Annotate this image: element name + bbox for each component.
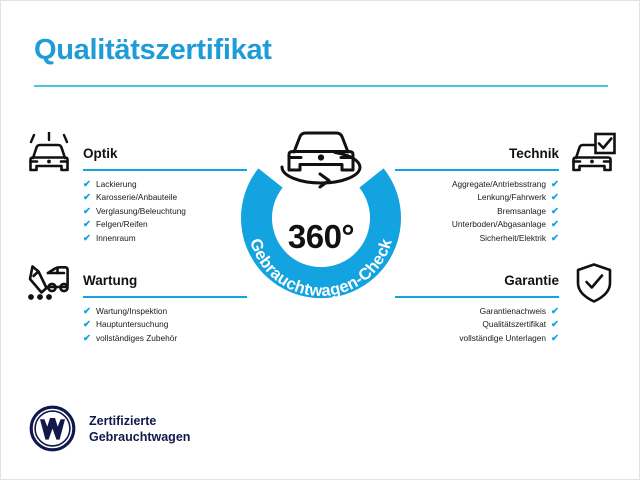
shield-check-icon	[573, 261, 615, 310]
check-icon: ✔	[83, 318, 91, 331]
check-icon: ✔	[83, 305, 91, 318]
check-icon: ✔	[551, 318, 559, 331]
check-icon: ✔	[551, 218, 559, 231]
list-item-label: Qualitätszertifikat	[482, 318, 546, 331]
list-item-label: Aggregate/Antriebsstrang	[452, 178, 546, 191]
list-item-label: Bremsanlage	[497, 205, 546, 218]
list-item-label: vollständiges Zubehör	[96, 332, 177, 345]
list-item-label: Verglasung/Beleuchtung	[96, 205, 186, 218]
list-item-label: Lenkung/Fahrwerk	[477, 191, 546, 204]
list-item-label: vollständige Unterlagen	[459, 332, 546, 345]
check-icon: ✔	[83, 205, 91, 218]
section-header: Technik	[395, 145, 559, 171]
section-header: Optik	[83, 145, 247, 171]
list-item: ✔Qualitätszertifikat	[395, 318, 559, 331]
list-item: ✔Lackierung	[83, 178, 247, 191]
list-item: ✔Lenkung/Fahrwerk	[395, 191, 559, 204]
check-icon: ✔	[551, 332, 559, 345]
check-icon: ✔	[551, 232, 559, 245]
list-item-label: Karosserie/Anbauteile	[96, 191, 177, 204]
section-technik: Technik ✔Aggregate/Antriebsstrang ✔Lenku…	[395, 145, 559, 245]
car-rotate-icon	[282, 133, 360, 187]
section-header: Wartung	[83, 272, 247, 298]
list-item: ✔Garantienachweis	[395, 305, 559, 318]
section-header: Garantie	[395, 272, 559, 298]
section-wartung: Wartung ✔Wartung/Inspektion ✔Hauptunters…	[83, 272, 247, 345]
list-item: ✔vollständige Unterlagen	[395, 332, 559, 345]
section-title: Wartung	[83, 272, 247, 290]
checklist: ✔Garantienachweis ✔Qualitätszertifikat ✔…	[395, 305, 559, 345]
section-underline	[395, 169, 559, 171]
checklist: ✔Lackierung ✔Karosserie/Anbauteile ✔Verg…	[83, 178, 247, 245]
footer-label: Zertifizierte Gebrauchtwagen	[89, 413, 190, 445]
title-divider	[34, 85, 608, 87]
section-underline	[83, 296, 247, 298]
list-item-label: Unterboden/Abgasanlage	[452, 218, 546, 231]
list-item-label: Lackierung	[96, 178, 137, 191]
qualitaetszertifikat-page: Qualitätszertifikat	[0, 0, 640, 480]
page-title: Qualitätszertifikat	[34, 34, 272, 67]
list-item: ✔Verglasung/Beleuchtung	[83, 205, 247, 218]
list-item-label: Garantienachweis	[480, 305, 546, 318]
list-item: ✔Hauptuntersuchung	[83, 318, 247, 331]
check-icon: ✔	[83, 178, 91, 191]
list-item: ✔Felgen/Reifen	[83, 218, 247, 231]
section-title: Garantie	[395, 272, 559, 290]
section-title: Optik	[83, 145, 247, 163]
car-checkbox-icon	[567, 132, 617, 181]
check-icon: ✔	[551, 305, 559, 318]
list-item-label: Innenraum	[96, 232, 136, 245]
checklist: ✔Aggregate/Antriebsstrang ✔Lenkung/Fahrw…	[395, 178, 559, 245]
list-item: ✔Aggregate/Antriebsstrang	[395, 178, 559, 191]
footer-branding: Zertifizierte Gebrauchtwagen	[29, 405, 190, 452]
list-item-label: Wartung/Inspektion	[96, 305, 167, 318]
list-item: ✔Innenraum	[83, 232, 247, 245]
list-item: ✔Unterboden/Abgasanlage	[395, 218, 559, 231]
section-title: Technik	[395, 145, 559, 163]
section-underline	[395, 296, 559, 298]
check-icon: ✔	[83, 191, 91, 204]
list-item: ✔Sicherheit/Elektrik	[395, 232, 559, 245]
list-item-label: Sicherheit/Elektrik	[480, 232, 546, 245]
list-item-label: Felgen/Reifen	[96, 218, 148, 231]
check-icon: ✔	[83, 232, 91, 245]
section-optik: Optik ✔Lackierung ✔Karosserie/Anbauteile…	[83, 145, 247, 245]
volkswagen-logo	[29, 405, 76, 452]
list-item: ✔Karosserie/Anbauteile	[83, 191, 247, 204]
badge-number: 360°	[230, 218, 412, 256]
checklist: ✔Wartung/Inspektion ✔Hauptuntersuchung ✔…	[83, 305, 247, 345]
check-icon: ✔	[551, 178, 559, 191]
badge-360-gebrauchtwagen-check: Gebrauchtwagen-Check 360°	[230, 114, 412, 310]
list-item: ✔Bremsanlage	[395, 205, 559, 218]
car-shine-icon	[24, 132, 74, 181]
car-service-icon	[24, 260, 74, 309]
check-icon: ✔	[83, 218, 91, 231]
section-underline	[83, 169, 247, 171]
section-garantie: Garantie ✔Garantienachweis ✔Qualitätszer…	[395, 272, 559, 345]
list-item-label: Hauptuntersuchung	[96, 318, 168, 331]
list-item: ✔Wartung/Inspektion	[83, 305, 247, 318]
check-icon: ✔	[551, 205, 559, 218]
list-item: ✔vollständiges Zubehör	[83, 332, 247, 345]
check-icon: ✔	[551, 191, 559, 204]
check-icon: ✔	[83, 332, 91, 345]
